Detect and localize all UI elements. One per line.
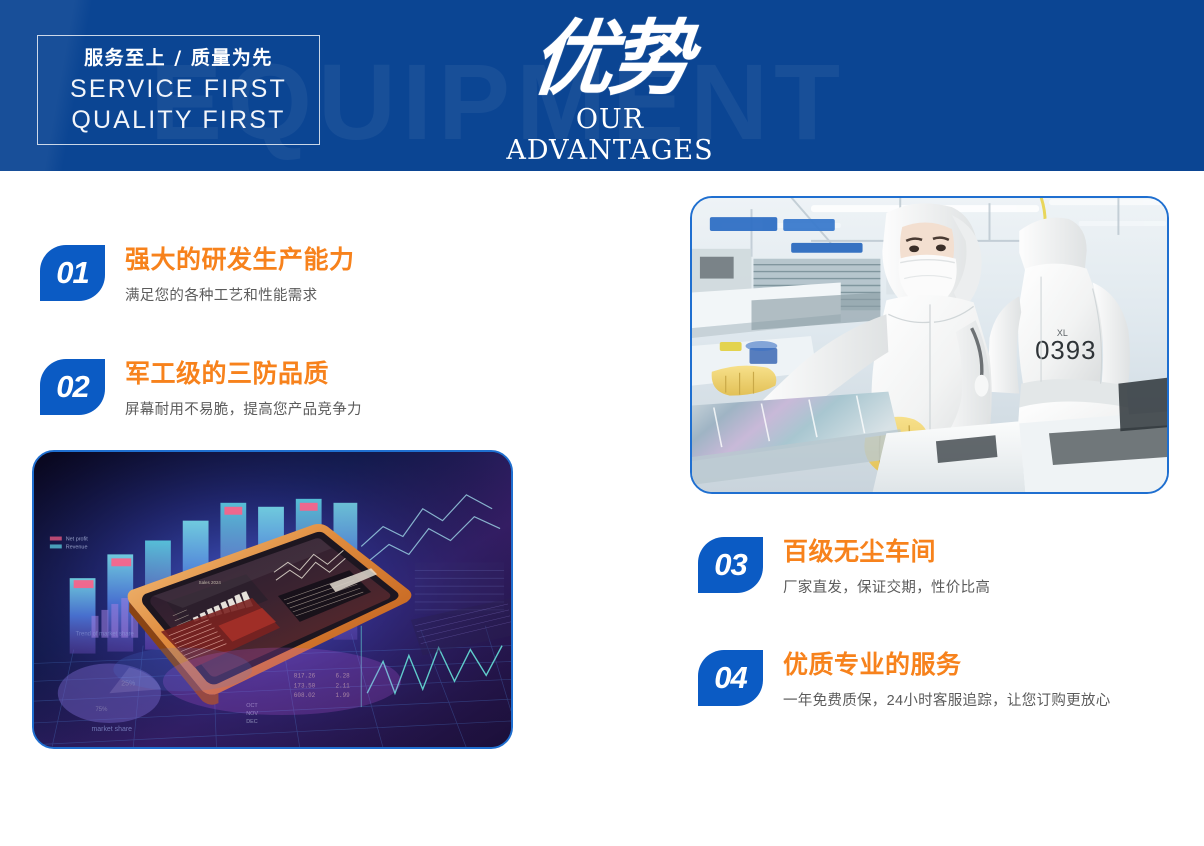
feature-subtitle-03: 厂家直发，保证交期，性价比高 xyxy=(783,579,990,598)
feature-text-block-02: 军工级的三防品质 屏幕耐用不易脆，提高您产品竞争力 xyxy=(125,359,362,420)
svg-text:Trend of market share: Trend of market share xyxy=(76,632,135,638)
feature-title-02: 军工级的三防品质 xyxy=(125,360,362,389)
feature-number-badge-02: 02 xyxy=(40,359,105,415)
advantages-logo-chinese: 优势 xyxy=(466,18,755,100)
slogan-english-line1: SERVICE FIRST xyxy=(70,74,287,105)
feature-subtitle-02: 屏幕耐用不易脆，提高您产品竞争力 xyxy=(125,401,362,420)
feature-number-badge-03: 03 xyxy=(698,537,763,593)
feature-text-block-01: 强大的研发生产能力 满足您的各种工艺和性能需求 xyxy=(125,245,355,306)
svg-text:0393: 0393 xyxy=(1035,337,1096,365)
feature-title-04: 优质专业的服务 xyxy=(783,651,1111,680)
svg-text:DEC: DEC xyxy=(246,719,258,725)
slogan-box: 服务至上 / 质量为先 SERVICE FIRST QUALITY FIRST xyxy=(37,35,320,145)
feature-item-03: 03 百级无尘车间 厂家直发，保证交期，性价比高 xyxy=(698,537,990,598)
feature-item-02: 02 军工级的三防品质 屏幕耐用不易脆，提高您产品竞争力 xyxy=(40,359,362,420)
feature-text-block-04: 优质专业的服务 一年免费质保，24小时客服追踪，让您订购更放心 xyxy=(783,650,1111,711)
feature-item-04: 04 优质专业的服务 一年免费质保，24小时客服追踪，让您订购更放心 xyxy=(698,650,1111,711)
cleanroom-photo: XL 0393 xyxy=(690,196,1169,494)
advantages-logo: 优势 OUR ADVANTAGES xyxy=(470,18,750,158)
feature-title-03: 百级无尘车间 xyxy=(783,538,990,567)
feature-subtitle-01: 满足您的各种工艺和性能需求 xyxy=(125,287,355,306)
feature-number-badge-01: 01 xyxy=(40,245,105,301)
page-header-banner: EQUIPMENT 服务至上 / 质量为先 SERVICE FIRST QUAL… xyxy=(0,0,1204,171)
advantages-logo-english: OUR ADVANTAGES xyxy=(470,104,750,166)
feature-number-badge-04: 04 xyxy=(698,650,763,706)
feature-text-block-03: 百级无尘车间 厂家直发，保证交期，性价比高 xyxy=(783,537,990,598)
svg-text:Net profit: Net profit xyxy=(66,536,89,542)
svg-text:market share: market share xyxy=(92,726,133,733)
feature-title-01: 强大的研发生产能力 xyxy=(125,246,355,275)
svg-text:Revenue: Revenue xyxy=(66,544,88,550)
slogan-english: SERVICE FIRST QUALITY FIRST xyxy=(70,74,287,135)
svg-text:75%: 75% xyxy=(95,707,108,713)
slogan-english-line2: QUALITY FIRST xyxy=(70,105,287,136)
feature-item-01: 01 强大的研发生产能力 满足您的各种工艺和性能需求 xyxy=(40,245,355,306)
slogan-chinese: 服务至上 / 质量为先 xyxy=(84,47,273,70)
feature-subtitle-04: 一年免费质保，24小时客服追踪，让您订购更放心 xyxy=(783,692,1111,711)
tablet-data-photo: 25% 75% market share Trend of market sha… xyxy=(32,450,513,749)
